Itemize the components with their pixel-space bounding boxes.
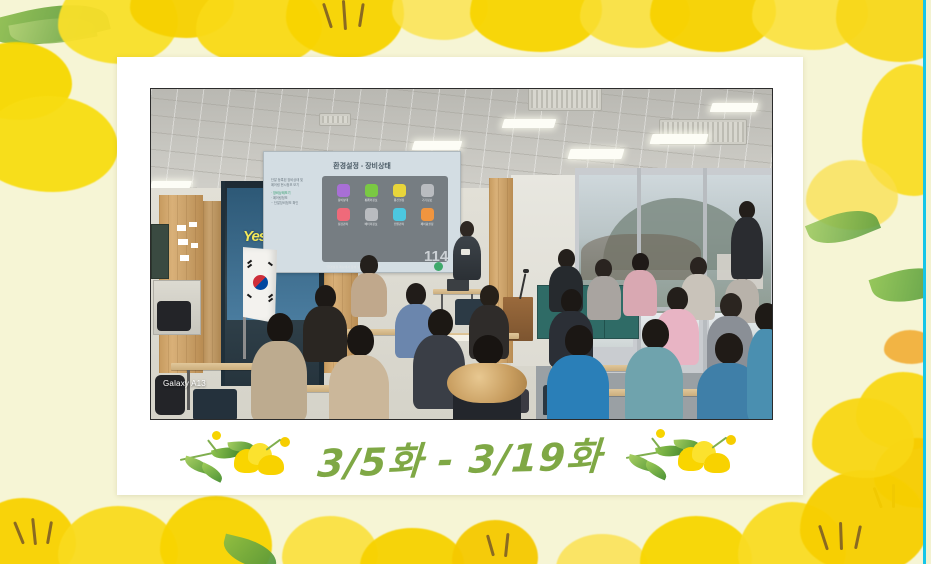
app-icon <box>393 184 406 197</box>
presenter <box>449 221 485 293</box>
wood-wall-left <box>203 201 223 366</box>
attendee-head <box>267 313 293 343</box>
flower-petal <box>640 516 752 564</box>
app-icon-grid: 장비상태 펌웨어정보 통신설정 <box>329 184 441 226</box>
app-icon <box>421 184 434 197</box>
flower-petal <box>812 398 914 478</box>
app-label: 페어링설정 <box>421 222 434 226</box>
sprig-bud <box>656 429 665 438</box>
app-icon <box>365 208 378 221</box>
attendee-body <box>731 217 763 279</box>
slide-side-line: 페어링 현시정보 보기 <box>271 183 317 188</box>
ceiling-light <box>567 149 624 159</box>
attendee-head <box>360 255 378 275</box>
slide-title: 환경설정 - 장비상태 <box>264 161 460 171</box>
attendee-body <box>351 273 387 317</box>
app-icon <box>337 184 350 197</box>
app-label: 전원관리 <box>394 222 404 226</box>
doorframe <box>221 181 225 386</box>
attendee <box>547 325 609 419</box>
flower-petal <box>0 96 118 192</box>
attendee <box>623 253 657 313</box>
app-cell: 점검관리 <box>329 208 357 226</box>
attendee-body <box>623 270 657 316</box>
ceiling-light <box>502 119 557 128</box>
desk-leg <box>187 370 190 410</box>
ac-vent <box>319 113 351 126</box>
attendee-head <box>667 287 688 311</box>
standing-attendee <box>731 201 763 281</box>
ceiling-light <box>151 181 192 188</box>
flower-petal <box>360 528 464 564</box>
attendee-body <box>329 355 389 419</box>
app-label: 통신설정 <box>394 198 404 202</box>
presenter-body <box>453 236 481 280</box>
slide-page-number: 114 <box>424 248 448 265</box>
ceiling-light <box>412 141 463 150</box>
app-cell: 전원관리 <box>385 208 413 226</box>
app-icon <box>421 208 434 221</box>
flower-petal <box>452 520 538 564</box>
lecture-photo: Yes <box>150 88 773 420</box>
accent-edge-strip <box>923 0 926 564</box>
attendee-body <box>625 347 683 419</box>
ceiling-light <box>710 103 759 112</box>
app-cell: 배터리정보 <box>357 208 385 226</box>
app-label: 점검관리 <box>338 222 348 226</box>
ceiling-light <box>649 134 708 144</box>
flower-sprig-right <box>620 429 744 485</box>
app-label: 펌웨어정보 <box>365 198 378 202</box>
flower-sprig-left <box>178 429 298 485</box>
app-icon <box>393 208 406 221</box>
caption-text: 3/5화 - 3/19화 <box>316 425 604 487</box>
attendee-head <box>480 285 499 307</box>
app-cell: 펌웨어정보 <box>357 184 385 202</box>
attendee <box>351 255 387 315</box>
attendee-head <box>428 309 453 337</box>
attendee-head <box>473 335 503 365</box>
attendee-head <box>720 293 742 318</box>
attendee-head <box>561 289 582 313</box>
attendee-body <box>547 355 609 419</box>
sprig-stem <box>712 437 727 449</box>
attendee-head <box>406 283 426 306</box>
attendee-with-fur-collar <box>447 335 527 419</box>
sprig-stem <box>266 439 281 451</box>
flower-petal <box>836 0 931 62</box>
app-cell: 통신설정 <box>385 184 413 202</box>
bag <box>157 301 191 331</box>
sprig-flower <box>258 455 284 475</box>
presenter-head <box>460 221 474 237</box>
app-icon <box>365 184 378 197</box>
attendee <box>329 325 389 419</box>
photo-card: Yes <box>117 57 803 495</box>
slide-canvas: Yes <box>0 0 931 564</box>
caption-row: 3/5화 - 3/19화 <box>150 425 771 487</box>
app-cell: 기기정보 <box>413 184 441 202</box>
taeguk-symbol <box>253 275 268 290</box>
ac-vent <box>528 89 602 111</box>
app-label: 배터리정보 <box>365 222 378 226</box>
attendee-body <box>747 329 772 419</box>
attendee-head <box>715 333 743 364</box>
chair <box>193 389 237 419</box>
attendee-head <box>755 303 772 331</box>
attendee-head <box>347 325 374 356</box>
notice-board <box>151 224 169 279</box>
presenter-badge <box>461 249 470 255</box>
sprig-bud <box>726 435 736 445</box>
microphone-head <box>523 269 529 273</box>
attendee-head <box>642 319 669 349</box>
leaf-shape <box>869 257 931 312</box>
attendee-head <box>565 325 593 356</box>
attendee <box>625 319 683 419</box>
sprig-flower <box>704 453 730 473</box>
app-cell: 페어링설정 <box>413 208 441 226</box>
app-cell: 장비상태 <box>329 184 357 202</box>
attendee <box>747 303 772 419</box>
app-icon <box>337 208 350 221</box>
sprig-bud <box>212 431 221 440</box>
app-label: 기기정보 <box>422 198 432 202</box>
right-edge-sliver <box>926 0 931 564</box>
app-label: 장비상태 <box>338 198 348 202</box>
flower-petal <box>556 534 648 564</box>
sprig-bud <box>280 437 290 447</box>
slide-side-text: 단말 등록된 장비상태 및 페어링 현시정보 보기 · 장비상태보기 · 페어링… <box>271 178 317 206</box>
photo-watermark: Galaxy A13 <box>163 379 206 388</box>
attendee <box>251 313 307 419</box>
slide-side-line: ·· 단말장비정보 확인 <box>271 201 317 206</box>
attendee-body <box>251 341 307 419</box>
fur-collar <box>447 363 527 403</box>
